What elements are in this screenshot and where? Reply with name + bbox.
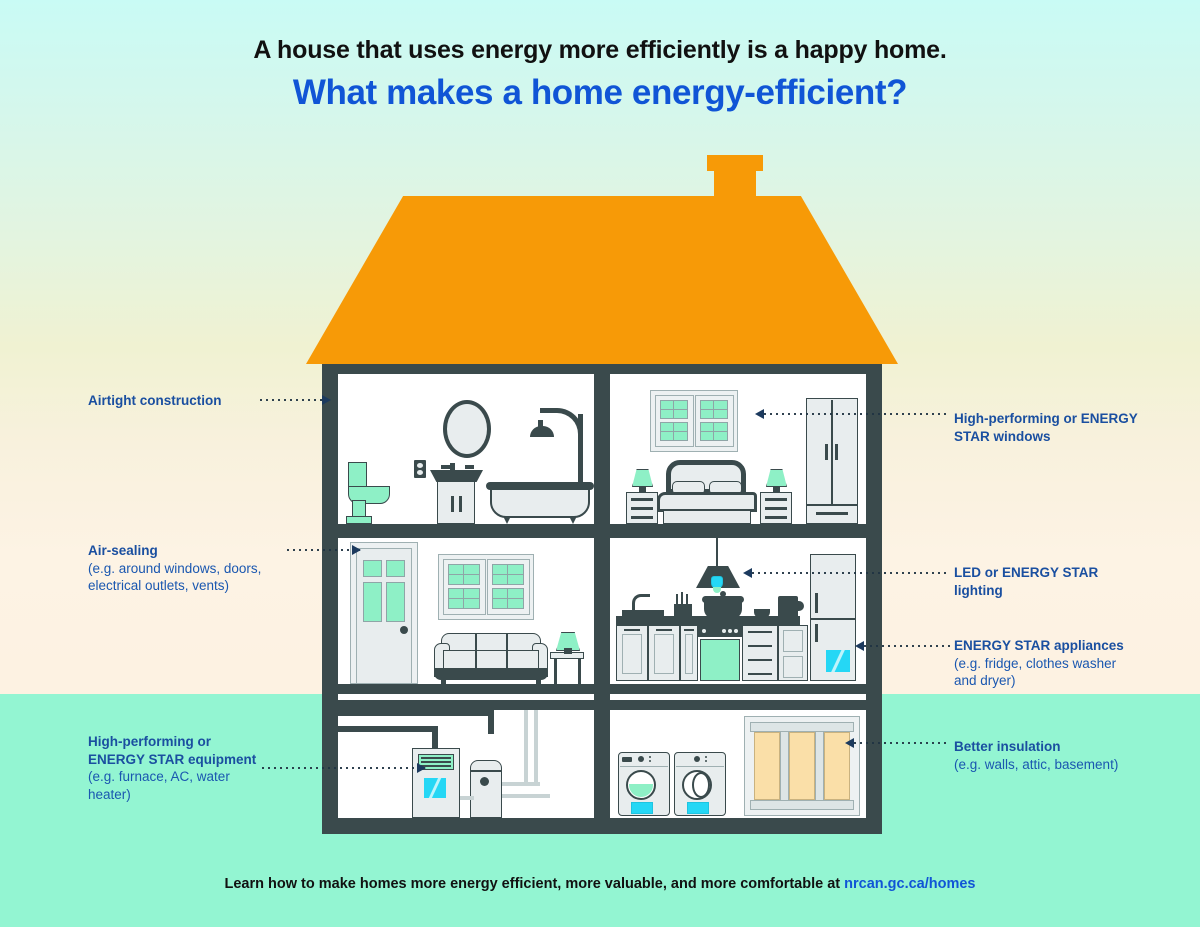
room-living [338,538,594,684]
bathtub-leg-left [503,516,511,524]
roof [306,196,898,364]
water-heater-pipe [460,796,474,800]
callout-detail-line: and dryer) [954,672,1169,690]
callout-detail-line: heater) [88,786,278,804]
window-muntin-h [448,598,480,599]
insulation-stud [780,732,789,800]
wardrobe-drawer-line [816,512,848,515]
stove-knob [728,629,732,633]
insulation-batt [754,732,780,800]
chimney-cap [707,155,763,171]
room-bedroom [610,374,866,524]
pendant-cord [716,538,718,568]
outlet-socket-top [417,463,423,468]
arrowhead-icon [845,738,854,748]
connector-windows [756,409,948,419]
kitchen-faucet [632,594,650,610]
insulation-top-plate [750,722,854,732]
room-bathroom [338,374,594,524]
energy-star-label-fridge [826,650,850,672]
energy-star-label-dryer [687,802,709,814]
connector-dots [756,413,948,415]
nightstand-drawer [631,516,653,519]
room-kitchen [610,538,866,684]
callout-detail-line: (e.g. furnace, AC, water [88,768,278,786]
sofa-seat [443,650,539,670]
pot-lid [702,596,744,603]
sofa-cushion-seam [506,634,508,668]
window-muntin-h [660,431,688,432]
energy-star-label-furnace [424,778,446,798]
duct-second [338,726,438,732]
fridge-handle-upper [815,593,818,613]
window-muntin-h [700,431,728,432]
nightstand-drawer [765,498,787,501]
cooking-pot [704,602,742,619]
pitcher [778,596,798,618]
wardrobe-base [806,504,858,506]
drawer-handle [748,631,772,633]
mattress [657,492,757,512]
nightstand-drawer [631,498,653,501]
callout-title: ENERGY STAR appliances [954,637,1169,655]
wardrobe-handle-left [825,444,828,460]
callout-title-line: High-performing or ENERGY [954,410,1164,428]
vanity-handle-left [451,496,454,512]
arrowhead-icon [352,545,361,555]
grille-slat [421,757,451,759]
callout-windows: High-performing or ENERGY STAR windows [954,410,1164,445]
insulation-stud [815,732,824,800]
insulation-batt [789,732,815,800]
connector-insulation [846,738,950,748]
cabinet-panel [685,634,693,674]
window-muntin-h [700,409,728,410]
connector-equipment [260,763,425,773]
cabinet-handle [656,629,672,631]
center-wall [594,374,610,818]
water-heater-band [470,770,502,772]
utensil [681,592,683,606]
drawer-handle [748,673,772,675]
stove-knob [734,629,738,633]
callout-air-sealing: Air-sealing (e.g. around windows, doors,… [88,542,288,595]
nightstand-drawer [765,507,787,510]
callout-title: Air-sealing [88,542,288,560]
callout-detail-line: (e.g. around windows, doors, [88,560,288,578]
callout-title-line: High-performing or [88,733,278,751]
vanity-cabinet [437,480,475,524]
cabinet-panel [783,656,803,678]
table-lamp-base [564,648,572,654]
doorknob [400,626,408,634]
cabinet-handle [684,629,694,631]
duct-elbow-v [488,710,494,734]
shower-stem [538,420,543,428]
wardrobe-handle-right [835,444,838,460]
footer-link[interactable]: nrcan.gc.ca/homes [844,876,975,892]
sink-faucet [450,463,455,472]
vanity-handle-right [459,496,462,512]
utensil [686,594,688,606]
dryer-panel-line [676,766,724,767]
cabinet-handle [624,629,640,631]
door-pane [386,582,405,622]
connector-dots [285,549,360,551]
connector-air-sealing [285,545,360,555]
door-pane [363,560,382,577]
door-pane [386,560,405,577]
side-table-leg-left [554,658,557,684]
sink-basin [430,470,483,482]
energy-star-label-washer [631,802,653,814]
duct-pipe-right-b [534,710,538,786]
callout-insulation: Better insulation (e.g. walls, attic, ba… [954,738,1169,773]
duct-top [338,710,494,716]
outlet-socket-bottom [417,470,423,475]
oven-door [700,639,740,681]
callout-title-line: ENERGY STAR equipment [88,751,278,769]
callout-title: Better insulation [954,738,1169,756]
lamp-shade-right [766,469,787,487]
side-table-leg-right [578,658,581,684]
footer: Learn how to make homes more energy effi… [0,876,1200,892]
connector-dots [846,742,950,744]
arrowhead-icon [855,641,864,651]
chimney-body [714,170,756,200]
callout-detail-line: electrical outlets, vents) [88,577,288,595]
fridge-divider [810,618,856,620]
duct-pipe-right-a [524,710,528,786]
arrowhead-icon [322,395,331,405]
insulation-bottom-plate [750,800,854,810]
drawer-handle [748,645,772,647]
cabinet-panel [654,634,674,674]
arrowhead-icon [743,568,752,578]
window-muntin-h [448,574,480,575]
callout-airtight-construction: Airtight construction [88,392,278,410]
sink-tap-left [441,465,450,469]
window-muntin-h [492,574,524,575]
sofa-cushion-seam [475,634,477,668]
stove-knob [702,629,706,633]
connector-appliances [856,641,950,651]
mirror [443,400,491,458]
door-pane [363,582,382,622]
toilet-foot [346,516,372,524]
dryer-drum-inner [692,772,710,798]
pot-knob [720,591,726,597]
callout-title-line: LED or ENERGY STAR [954,564,1164,582]
utensil-jar [674,604,692,618]
window-muntin-h [492,598,524,599]
room-laundry [610,710,866,818]
footer-text: Learn how to make homes more energy effi… [224,876,844,892]
washer-control-slot [622,757,632,762]
water-heater-dial [480,777,489,786]
callout-detail-line: (e.g. walls, attic, basement) [954,756,1169,774]
nightstand-drawer [631,507,653,510]
cabinet-panel [622,634,642,674]
callout-lighting: LED or ENERGY STAR lighting [954,564,1164,599]
callout-title-line: lighting [954,582,1164,600]
connector-dots [260,767,425,769]
cabinet-panel [783,630,803,652]
lamp-base-right [773,486,780,493]
arrowhead-icon [417,763,426,773]
utensil [676,594,678,606]
callout-title: Airtight construction [88,392,278,410]
connector-lighting [744,568,950,578]
kitchen-sink [622,610,664,618]
bathtub-leg-right [569,516,577,524]
lamp-base-left [639,486,646,493]
washer-panel-line [620,766,668,767]
sink-tap-right [465,465,474,469]
callout-title-line: STAR windows [954,428,1164,446]
callout-appliances: ENERGY STAR appliances (e.g. fridge, clo… [954,637,1169,690]
sofa-base [434,668,548,680]
callout-detail-line: (e.g. fridge, clothes washer [954,655,1169,673]
water-heater [470,760,502,818]
fridge-handle-lower [815,624,818,642]
lamp-shade-left [632,469,653,487]
nightstand-drawer [765,516,787,519]
washer-knob [638,756,644,762]
pitcher-handle [796,601,804,611]
window-muntin-h [660,409,688,410]
callout-equipment: High-performing or ENERGY STAR equipment… [88,733,278,803]
connector-dots [856,645,950,647]
stove-knob [722,629,726,633]
dryer-knob [694,756,700,762]
bathtub [490,486,590,518]
connector-dots [744,572,950,574]
bed-base [663,510,751,524]
arrowhead-icon [755,409,764,419]
duct-second-elbow [432,726,438,748]
drawer-handle [748,659,772,661]
cup-saucer [751,617,773,620]
